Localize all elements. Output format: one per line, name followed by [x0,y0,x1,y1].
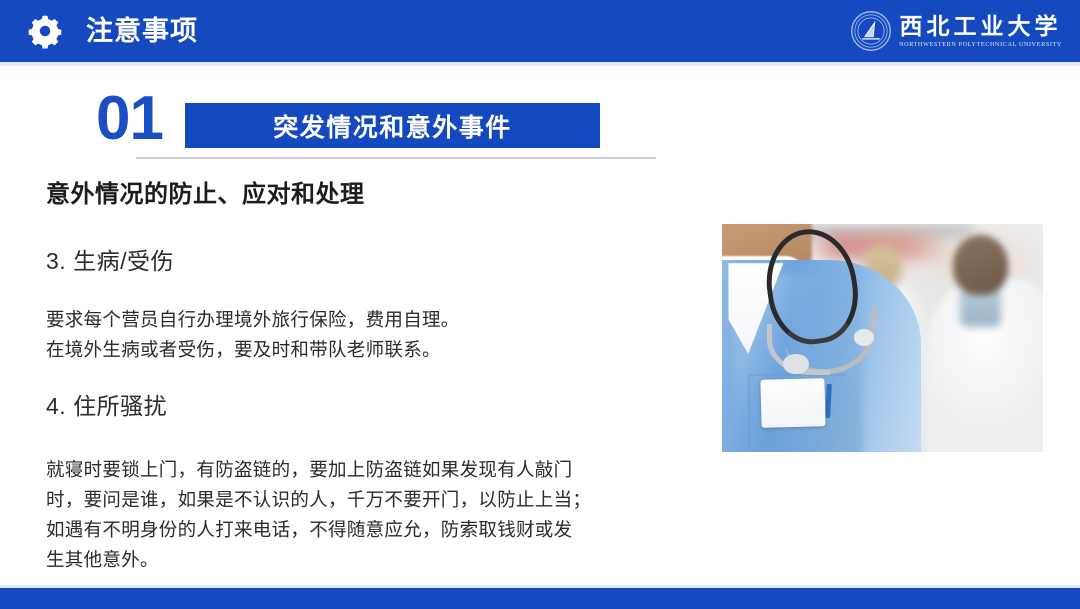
medical-staff-photo [722,224,1043,452]
logo-name-cn: 西北工业大学 [900,14,1062,40]
photo-stethoscope-bell [783,354,809,375]
section-banner: 突发情况和意外事件 [185,103,600,148]
body-line: 如遇有不明身份的人打来电话，不得随意应允，防索取钱财或发 [46,515,706,545]
body-line: 就寝时要锁上门，有防盗链的，要加上防盗链如果发现有人敲门 [46,455,706,485]
photo-name-badge [760,378,825,428]
page-title: 注意事项 [86,12,198,50]
slide: 注意事项 西北工业大学 NORTHWESTERN POLYTECHNICAL U… [0,0,1080,609]
body-line: 生其他意外。 [46,545,706,575]
item-heading-4: 4. 住所骚扰 [46,387,167,421]
body-line: 在境外生病或者受伤，要及时和带队老师联系。 [46,335,706,365]
gear-icon [26,12,64,50]
body-line: 要求每个营员自行办理境外旅行保险，费用自理。 [46,305,706,335]
university-emblem-icon [850,10,892,52]
photo-background-person-right-head [953,235,1008,294]
item-heading-3: 3. 生病/受伤 [46,242,174,276]
footer-bar [0,588,1080,609]
body-line: 时，要问是谁，如果是不认识的人，千万不要开门，以防止上当； [46,485,706,515]
header-underline [0,62,1080,66]
section-number: 01 [96,86,163,152]
logo-name-en: NORTHWESTERN POLYTECHNICAL UNIVERSITY [899,40,1062,50]
section-banner-label: 突发情况和意外事件 [273,108,512,144]
item-body-4: 就寝时要锁上门，有防盗链的，要加上防盗链如果发现有人敲门 时，要问是谁，如果是不… [46,455,706,575]
university-logo: 西北工业大学 NORTHWESTERN POLYTECHNICAL UNIVER… [850,8,1062,54]
section-divider [136,157,656,159]
content-subtitle: 意外情况的防止、应对和处理 [46,174,365,209]
item-body-3: 要求每个营员自行办理境外旅行保险，费用自理。 在境外生病或者受伤，要及时和带队老… [46,305,706,365]
